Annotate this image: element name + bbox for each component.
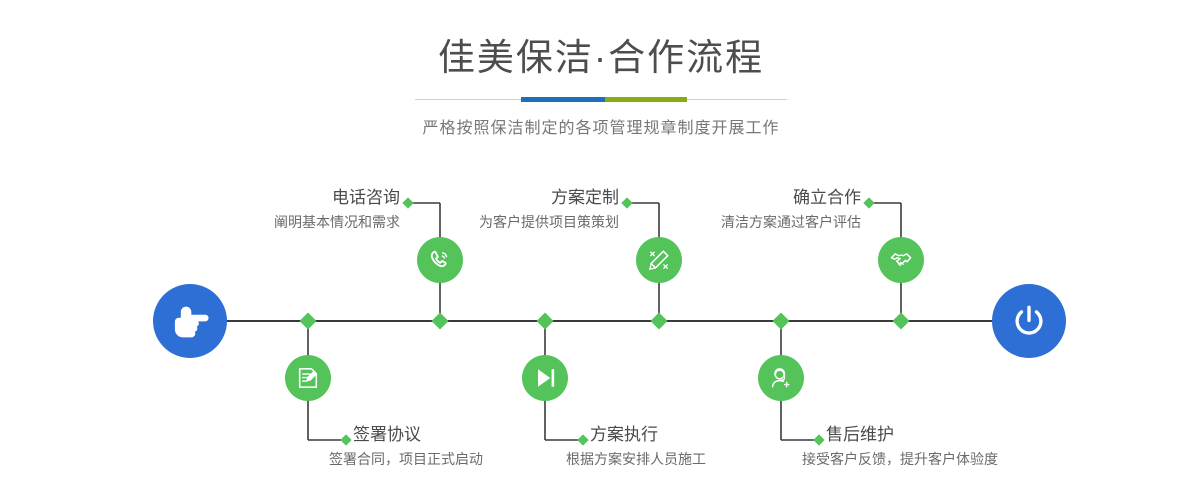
step-desc: 为客户提供项目策策划: [367, 208, 619, 232]
headset-support-icon: [767, 364, 795, 392]
diamond-marker: [773, 313, 790, 330]
step-icon-phone-consultation[interactable]: [417, 237, 463, 283]
diamond-marker: [432, 313, 449, 330]
flow-end-node[interactable]: [992, 284, 1066, 358]
handshake-icon: [887, 246, 915, 274]
step-label-after-sales-maintenance: 售后维护 接受客户反馈，提升客户体验度: [826, 425, 1146, 469]
diamond-marker: [863, 197, 874, 208]
step-label-phone-consultation: 电话咨询 阐明基本情况和需求: [148, 188, 400, 232]
document-pen-icon: [294, 364, 322, 392]
step-label-plan-customization: 方案定制 为客户提供项目策策划: [367, 188, 619, 232]
step-icon-sign-agreement[interactable]: [285, 355, 331, 401]
power-icon: [1009, 301, 1049, 341]
phone-call-icon: [426, 246, 454, 274]
step-title: 售后维护: [826, 425, 1146, 445]
play-skip-icon: [531, 364, 559, 392]
step-desc: 清洁方案通过客户评估: [609, 208, 861, 232]
diamond-marker: [300, 313, 317, 330]
step-label-establish-cooperation: 确立合作 清洁方案通过客户评估: [609, 188, 861, 232]
pointing-hand-icon: [169, 300, 211, 342]
step-title: 方案定制: [367, 188, 619, 208]
diamond-marker: [893, 313, 910, 330]
diamond-marker: [537, 313, 554, 330]
step-icon-after-sales-maintenance[interactable]: [758, 355, 804, 401]
diamond-marker: [651, 313, 668, 330]
pencil-ruler-icon: [645, 246, 673, 274]
step-title: 确立合作: [609, 188, 861, 208]
diamond-marker: [340, 434, 351, 445]
step-title: 电话咨询: [148, 188, 400, 208]
process-flow-diagram: 电话咨询 阐明基本情况和需求 方案定制 为客户提供项目策策划 确立合作 清洁方案…: [0, 0, 1202, 502]
step-desc: 阐明基本情况和需求: [148, 208, 400, 232]
step-desc: 接受客户反馈，提升客户体验度: [802, 445, 1146, 469]
step-icon-establish-cooperation[interactable]: [878, 237, 924, 283]
step-icon-plan-execution[interactable]: [522, 355, 568, 401]
flow-start-node[interactable]: [153, 284, 227, 358]
step-icon-plan-customization[interactable]: [636, 237, 682, 283]
